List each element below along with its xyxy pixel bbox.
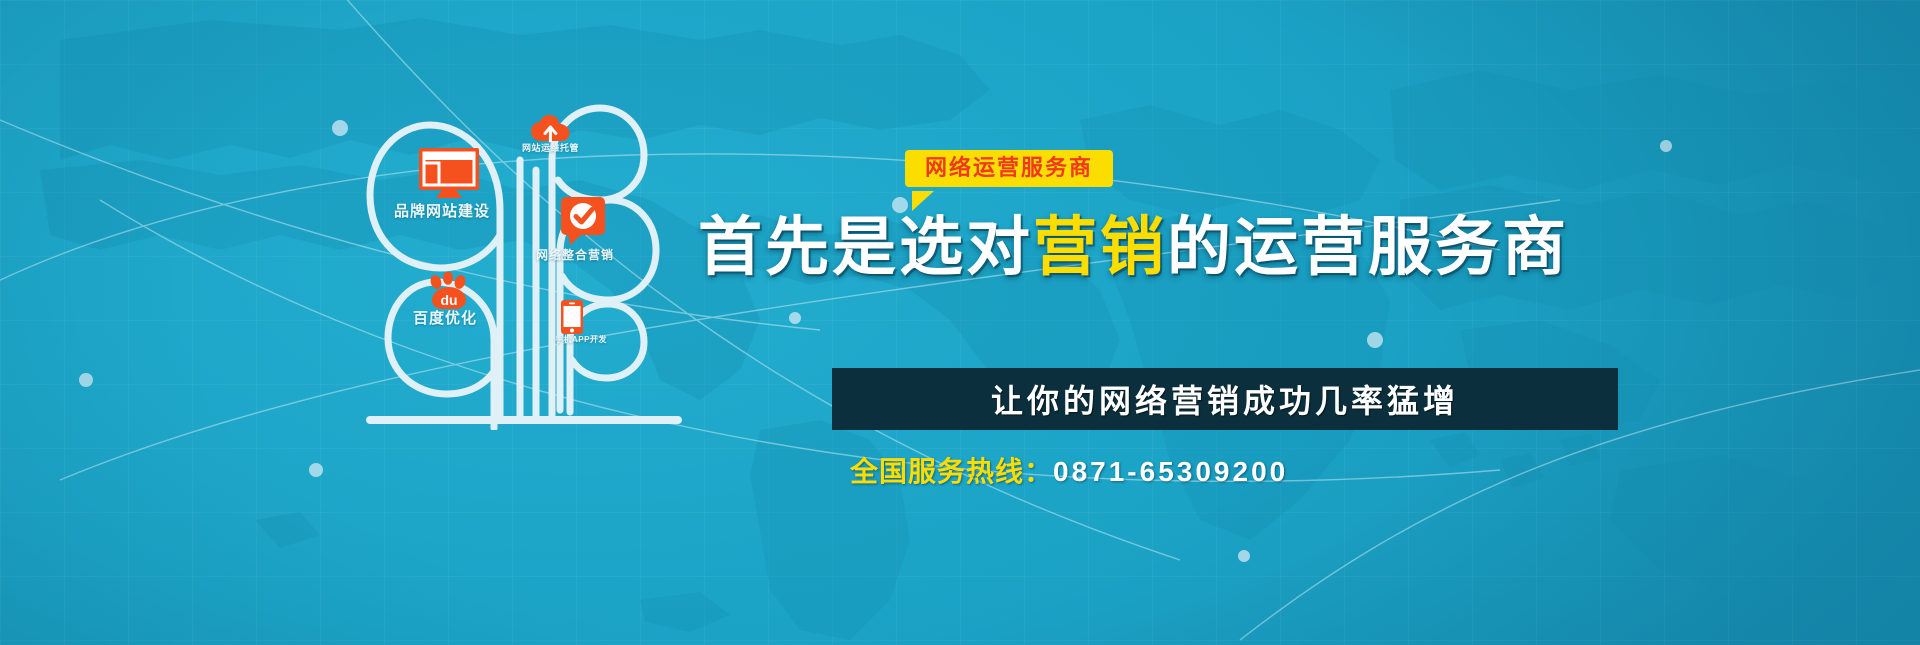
tree-node-label-integrated-marketing: 网络整合营销 — [536, 246, 614, 263]
status-badge: 网络运营服务商 — [905, 150, 1113, 187]
tree-node-label-site-hosting: 网站运维托管 — [522, 141, 579, 154]
connection-arcs — [0, 0, 1920, 645]
mobile-phone-icon — [561, 300, 583, 334]
monitor-icon — [418, 147, 480, 199]
cloud-upload-icon — [531, 115, 571, 143]
headline-part-1: 首先是选对 — [698, 211, 1033, 283]
tree-node-label-app-dev: 手机APP开发 — [555, 334, 607, 345]
baidu-paw-icon: du — [427, 272, 471, 310]
check-bubble-icon — [561, 197, 605, 245]
headline-part-2: 的运营服务商 — [1167, 211, 1569, 283]
tree-node-label-brand-website: 品牌网站建设 — [394, 200, 490, 221]
badge-tail-icon — [912, 191, 934, 211]
badge-container: 网络运营服务商 — [680, 150, 1780, 200]
headline-highlight: 营销 — [1033, 211, 1167, 283]
marketing-banner: 品牌网站建设 du 百度优化 网站运维托管 网络整合营销 手机APP开发 网络运… — [0, 0, 1920, 645]
subtitle-bar: 让你的网络营销成功几率猛增 — [832, 368, 1618, 430]
hotline-number[interactable]: 0871-65309200 — [1053, 456, 1288, 487]
subtitle-text: 让你的网络营销成功几率猛增 — [991, 376, 1459, 422]
hotline: 全国服务热线：0871-65309200 — [850, 450, 1288, 490]
tree-node-label-baidu-seo: 百度优化 — [413, 307, 477, 328]
svg-text:du: du — [440, 292, 457, 308]
banner-content: 网络运营服务商 首先是选对营销的运营服务商 让你的网络营销成功几率猛增 全国服务… — [680, 150, 1780, 200]
hotline-label: 全国服务热线： — [850, 456, 1053, 487]
page-title: 首先是选对营销的运营服务商 — [698, 215, 1569, 279]
